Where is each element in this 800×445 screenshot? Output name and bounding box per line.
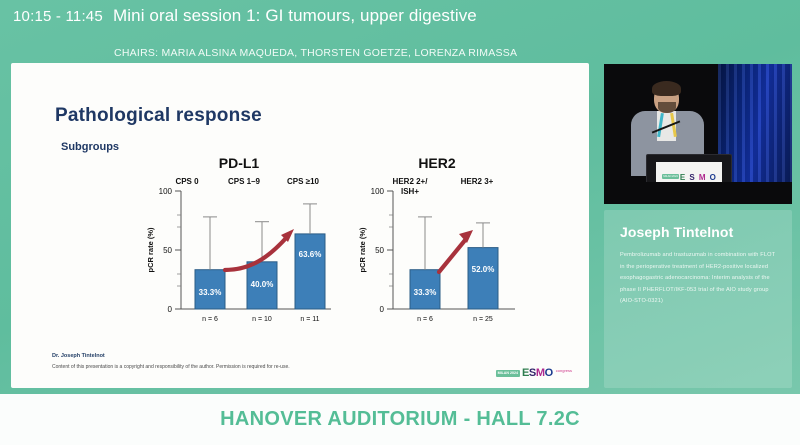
esmo-logo-year: MILAN 2024 bbox=[496, 370, 520, 378]
presentation-slide[interactable]: Pathological response Subgroups PD-L1 CP… bbox=[11, 63, 589, 388]
svg-text:pCR rate (%): pCR rate (%) bbox=[146, 227, 155, 273]
esmo-logo-letter-m: M bbox=[536, 368, 545, 379]
podium-logo-year: MILAN 2024 bbox=[662, 174, 678, 179]
esmo-logo-congress: congress bbox=[556, 368, 572, 373]
slide-footer-author: Dr. Joseph Tintelnot bbox=[52, 353, 105, 359]
svg-text:n = 6: n = 6 bbox=[202, 316, 218, 323]
svg-text:40.0%: 40.0% bbox=[251, 280, 274, 289]
svg-text:50: 50 bbox=[163, 246, 172, 255]
chart-her2: HER2 HER2 2+/ ISH+ HER2 3+ 100 50 0 pCR … bbox=[353, 155, 521, 335]
svg-text:0: 0 bbox=[380, 305, 385, 314]
speaker-video-feed[interactable]: MILAN 2024 E S M O bbox=[604, 64, 792, 204]
session-time: 10:15 - 11:45 bbox=[13, 8, 103, 25]
slide-subtitle: Subgroups bbox=[61, 141, 119, 153]
svg-text:33.3%: 33.3% bbox=[414, 288, 437, 297]
slide-title: Pathological response bbox=[55, 105, 262, 127]
chart-pdl1-plot: 100 50 0 pCR rate (%) 33.3% 40.0% bbox=[141, 177, 337, 335]
podium-logo-letter-m: M bbox=[699, 173, 705, 182]
svg-text:100: 100 bbox=[371, 187, 385, 196]
svg-text:n = 6: n = 6 bbox=[417, 316, 433, 323]
svg-text:0: 0 bbox=[168, 305, 173, 314]
svg-text:n = 25: n = 25 bbox=[473, 316, 493, 323]
speaker-name: Joseph Tintelnot bbox=[620, 224, 776, 240]
session-chairs: CHAIRS: MARIA ALSINA MAQUEDA, THORSTEN G… bbox=[114, 47, 517, 59]
slide-footer-copyright: Content of this presentation is a copyri… bbox=[52, 364, 290, 370]
speaker-hair bbox=[652, 81, 681, 96]
chart-her2-title: HER2 bbox=[353, 155, 521, 171]
chart-pdl1: PD-L1 CPS 0 CPS 1–9 CPS ≥10 100 50 bbox=[141, 155, 337, 335]
chart-pdl1-title: PD-L1 bbox=[141, 155, 337, 171]
svg-text:33.3%: 33.3% bbox=[199, 288, 222, 297]
podium-logo-letter-e: E bbox=[680, 173, 685, 182]
esmo-logo: MILAN 2024 E S M O congress bbox=[496, 368, 572, 379]
session-title: Mini oral session 1: GI tumours, upper d… bbox=[113, 6, 477, 26]
svg-text:63.6%: 63.6% bbox=[299, 250, 322, 259]
svg-text:pCR rate (%): pCR rate (%) bbox=[358, 227, 367, 273]
svg-text:n = 10: n = 10 bbox=[252, 316, 272, 323]
svg-text:100: 100 bbox=[159, 187, 173, 196]
esmo-logo-letter-e: E bbox=[522, 368, 529, 379]
svg-text:52.0%: 52.0% bbox=[472, 265, 495, 274]
esmo-logo-letter-o: O bbox=[545, 368, 553, 379]
esmo-logo-wordmark: E S M O bbox=[522, 368, 553, 379]
chart-her2-plot: 100 50 0 pCR rate (%) 33.3% 52.0% n = 6 … bbox=[353, 177, 521, 335]
video-letterbox bbox=[604, 182, 792, 204]
speaker-abstract-title: Pembrolizumab and trastuzumab in combina… bbox=[620, 250, 776, 308]
podium-logo-letter-s: S bbox=[689, 173, 694, 182]
speaker-beard bbox=[658, 102, 676, 113]
svg-text:50: 50 bbox=[375, 246, 384, 255]
venue-bar: HANOVER AUDITORIUM - HALL 7.2C bbox=[0, 394, 800, 445]
venue-hall-label: HANOVER AUDITORIUM - HALL 7.2C bbox=[220, 408, 580, 431]
svg-text:n = 11: n = 11 bbox=[300, 316, 319, 323]
broadcast-player: 10:15 - 11:45 Mini oral session 1: GI tu… bbox=[0, 0, 800, 445]
podium-logo-letter-o: O bbox=[710, 173, 716, 182]
speaker-info-card: Joseph Tintelnot Pembrolizumab and trast… bbox=[604, 210, 792, 388]
esmo-logo-letter-s: S bbox=[529, 368, 536, 379]
